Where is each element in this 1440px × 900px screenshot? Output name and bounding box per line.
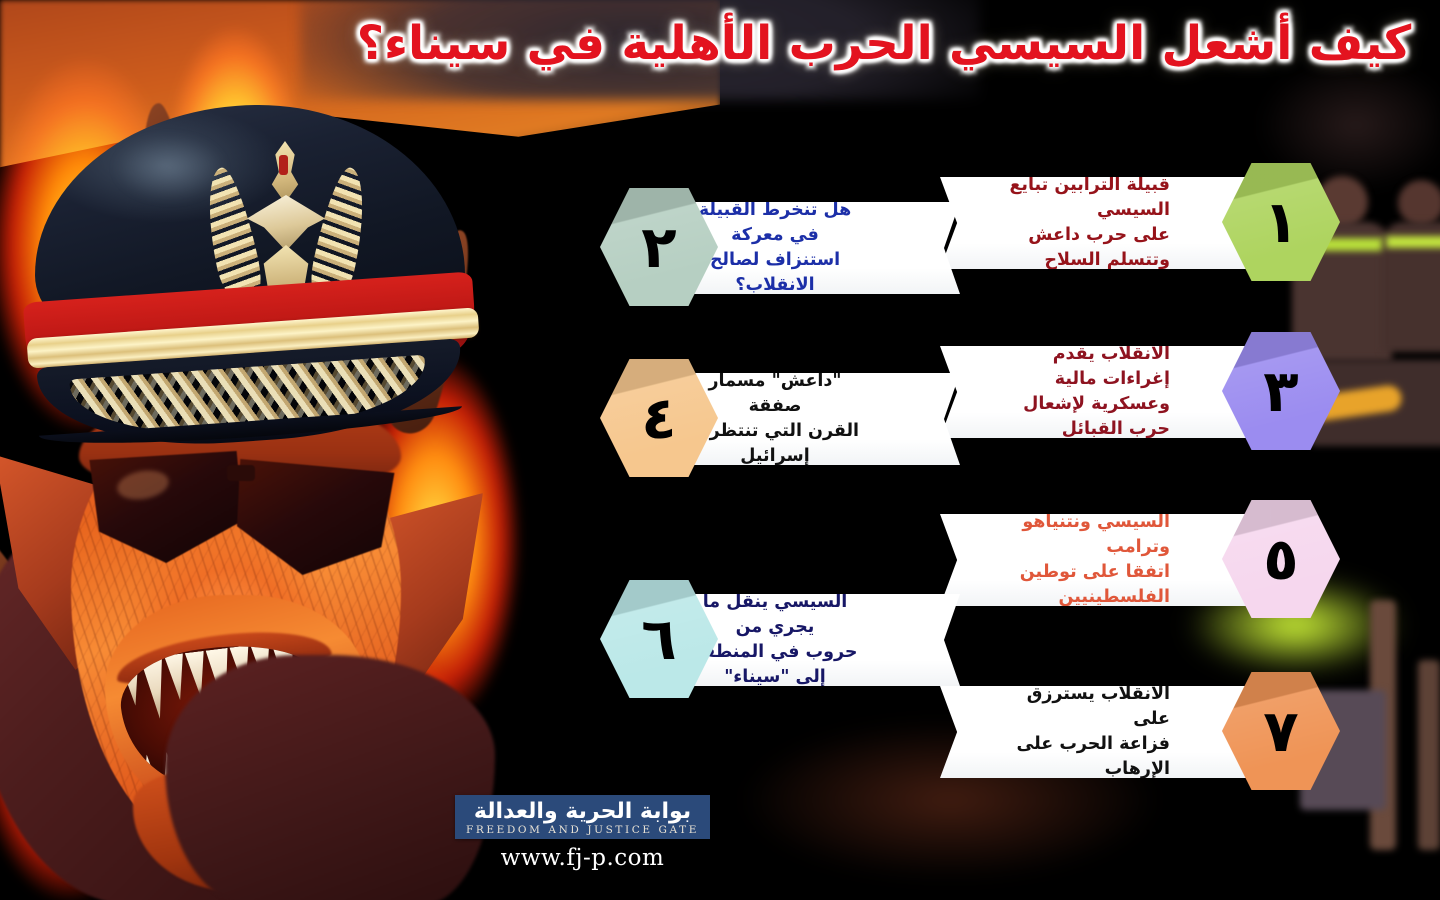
item-5-number: ٥ xyxy=(1263,530,1298,588)
item-5-line-1: السيسي ونتنياهو وترامب xyxy=(988,510,1170,560)
item-4: "داعش" مسمار صفقة القرن التي تنتظرها إسر… xyxy=(600,359,960,477)
item-1: قبيلة الترابين تبايع السيسي على حرب داعش… xyxy=(940,163,1340,281)
item-3-text: الانقلاب يقدم إغراءات مالية وعسكرية لإشع… xyxy=(988,342,1174,441)
item-3-line-2: وعسكرية لإشعال حرب القبائل xyxy=(988,392,1170,442)
item-3: الانقلاب يقدم إغراءات مالية وعسكرية لإشع… xyxy=(940,332,1340,450)
item-1-text: قبيلة الترابين تبايع السيسي على حرب داعش… xyxy=(988,173,1174,272)
devil-general-illustration xyxy=(0,95,535,900)
item-6-number: ٦ xyxy=(641,610,676,668)
item-2: هل تنخرط القبيلة في معركة استنزاف لصالح … xyxy=(600,188,960,306)
logo-arabic-name: بوابة الحرية والعدالة xyxy=(463,800,702,823)
item-7-number: ٧ xyxy=(1263,702,1298,760)
tooth-icon xyxy=(119,659,143,707)
item-5-line-2: اتفقا على توطين الفلسطينيين xyxy=(988,560,1170,610)
item-6: السيسي ينقل ما يجري من حروب في المنطقة إ… xyxy=(600,580,960,698)
item-1-line-1: قبيلة الترابين تبايع السيسي xyxy=(988,173,1170,223)
soldier-vest-stripe xyxy=(1386,236,1440,248)
sunglass-lens xyxy=(83,451,243,563)
item-1-line-2: على حرب داعش وتتسلم السلاح xyxy=(988,223,1170,273)
crest-red-accent xyxy=(279,155,288,175)
infographic-canvas: كيف أشعل السيسي الحرب الأهلية في سيناء؟ … xyxy=(0,0,1440,900)
soldier-silhouette xyxy=(1398,180,1440,226)
fang-icon xyxy=(140,656,169,720)
item-4-number: ٤ xyxy=(641,389,676,447)
item-7-line-1: الانقلاب يسترزق على xyxy=(988,682,1170,732)
tooth-icon xyxy=(164,653,188,701)
post-silhouette xyxy=(1418,660,1440,850)
item-5: السيسي ونتنياهو وترامب اتفقا على توطين ا… xyxy=(940,500,1340,618)
item-1-number: ١ xyxy=(1263,193,1298,251)
sunglass-bridge xyxy=(227,465,255,481)
item-2-number: ٢ xyxy=(641,218,676,276)
item-3-line-1: الانقلاب يقدم إغراءات مالية xyxy=(988,342,1170,392)
sunglass-lens xyxy=(237,459,401,575)
logo-english-name: FREEDOM AND JUSTICE GATE xyxy=(463,824,702,836)
site-logo[interactable]: بوابة الحرية والعدالة FREEDOM AND JUSTIC… xyxy=(455,795,710,871)
logo-website-url[interactable]: www.fj-p.com xyxy=(455,845,710,871)
page-title: كيف أشعل السيسي الحرب الأهلية في سيناء؟ xyxy=(340,18,1428,71)
logo-plate: بوابة الحرية والعدالة FREEDOM AND JUSTIC… xyxy=(455,795,710,839)
military-peaked-cap xyxy=(15,105,485,435)
item-7-line-2: فزاعة الحرب على الإرهاب xyxy=(988,732,1170,782)
item-3-number: ٣ xyxy=(1263,362,1298,420)
item-7-text: الانقلاب يسترزق على فزاعة الحرب على الإر… xyxy=(988,682,1174,781)
lens-glint xyxy=(115,467,171,504)
sunglasses-icon xyxy=(77,445,407,575)
eagle-wings-icon xyxy=(247,195,325,251)
item-7: الانقلاب يسترزق على فزاعة الحرب على الإر… xyxy=(940,672,1340,790)
hood-cloak-front xyxy=(165,655,495,900)
item-5-text: السيسي ونتنياهو وترامب اتفقا على توطين ا… xyxy=(988,510,1174,609)
